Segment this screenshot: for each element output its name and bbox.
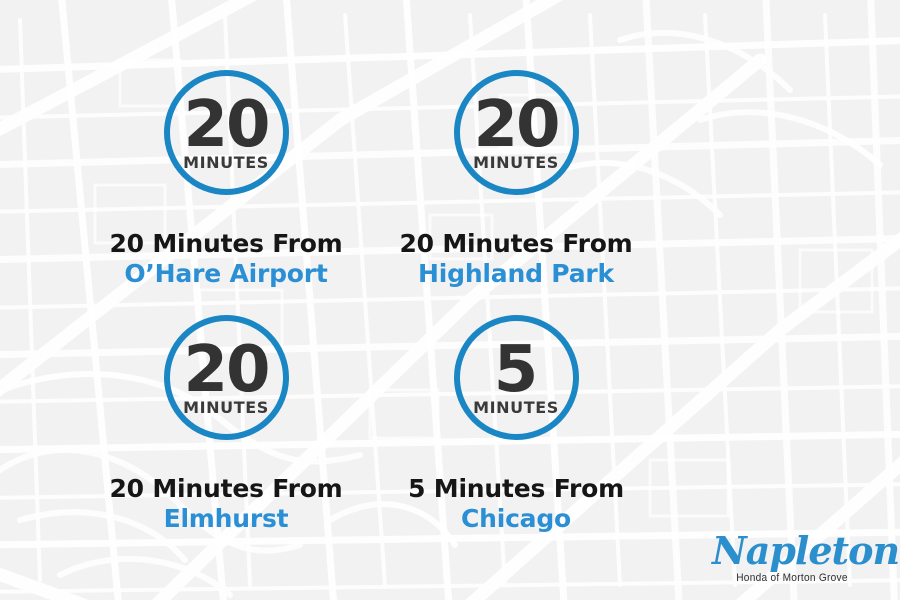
distance-badge-ohare-airport: 20 MINUTES 20 Minutes From O’Hare Airpor…: [0, 70, 290, 315]
badge-caption: 5 Minutes From Chicago: [408, 474, 624, 533]
badge-number: 5: [494, 343, 539, 398]
badge-unit-label: MINUTES: [473, 155, 559, 171]
minutes-circle-badge: 5 MINUTES: [454, 315, 579, 440]
distance-badge-chicago: 5 MINUTES 5 Minutes From Chicago: [290, 315, 580, 560]
distance-badge-grid: 20 MINUTES 20 Minutes From O’Hare Airpor…: [0, 70, 720, 560]
distance-badge-highland-park: 20 MINUTES 20 Minutes From Highland Park: [290, 70, 580, 315]
caption-location-line: Highland Park: [399, 259, 632, 289]
badge-unit-label: MINUTES: [183, 400, 269, 416]
dealership-logo: Napleton Honda of Morton Grove: [712, 532, 872, 584]
caption-duration-line: 5 Minutes From: [408, 474, 624, 504]
badge-unit-label: MINUTES: [473, 400, 559, 416]
minutes-circle-badge: 20 MINUTES: [164, 315, 289, 440]
badge-number: 20: [183, 343, 268, 398]
minutes-circle-badge: 20 MINUTES: [454, 70, 579, 195]
logo-wordmark: Napleton: [712, 532, 872, 570]
logo-tagline: Honda of Morton Grove: [718, 572, 865, 584]
badge-caption: 20 Minutes From Highland Park: [399, 229, 632, 288]
caption-location-line: Chicago: [408, 504, 624, 534]
badge-number: 20: [183, 98, 268, 153]
caption-duration-line: 20 Minutes From: [399, 229, 632, 259]
badge-unit-label: MINUTES: [183, 155, 269, 171]
minutes-circle-badge: 20 MINUTES: [164, 70, 289, 195]
distance-badge-elmhurst: 20 MINUTES 20 Minutes From Elmhurst: [0, 315, 290, 560]
badge-number: 20: [473, 98, 558, 153]
